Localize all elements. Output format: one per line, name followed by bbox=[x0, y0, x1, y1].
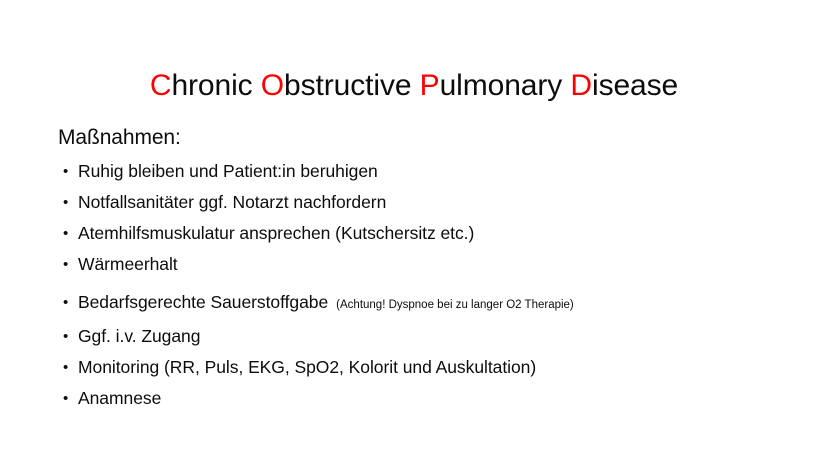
title-word-disease: isease bbox=[592, 69, 678, 102]
list-item: • Anamnese bbox=[58, 383, 778, 414]
title-initial-d: D bbox=[570, 69, 592, 102]
list-item: • Ruhig bleiben und Patient:in beruhigen bbox=[58, 156, 778, 187]
list-item: • Atemhilfsmuskulatur ansprechen (Kutsch… bbox=[58, 218, 778, 249]
list-item-label: Wärmeerhalt bbox=[78, 254, 178, 274]
list-item: • Bedarfsgerechte Sauerstoffgabe(Achtung… bbox=[58, 287, 778, 321]
list-item: • Notfallsanitäter ggf. Notarzt nachford… bbox=[58, 187, 778, 218]
list-item: • Monitoring (RR, Puls, EKG, SpO2, Kolor… bbox=[58, 352, 778, 383]
bullet-icon: • bbox=[63, 321, 68, 352]
body-content: Maßnahmen: • Ruhig bleiben und Patient:i… bbox=[58, 124, 778, 414]
list-item-note: (Achtung! Dyspnoe bei zu langer O2 Thera… bbox=[328, 299, 574, 311]
list-item-label: Monitoring (RR, Puls, EKG, SpO2, Kolorit… bbox=[78, 357, 536, 377]
bullet-icon: • bbox=[63, 383, 68, 414]
bullet-icon: • bbox=[63, 352, 68, 383]
measures-bullet-list: • Ruhig bleiben und Patient:in beruhigen… bbox=[58, 156, 778, 414]
list-item-label: Atemhilfsmuskulatur ansprechen (Kutscher… bbox=[78, 223, 474, 243]
list-item-label: Anamnese bbox=[78, 388, 161, 408]
title-initial-p: P bbox=[420, 69, 440, 102]
title-initial-o: O bbox=[261, 69, 284, 102]
bullet-icon: • bbox=[63, 249, 68, 280]
list-item-label: Bedarfsgerechte Sauerstoffgabe bbox=[78, 292, 328, 312]
bullet-icon: • bbox=[63, 187, 68, 218]
title-word-obstructive: bstructive bbox=[284, 69, 420, 102]
title-word-pulmonary: ulmonary bbox=[440, 69, 571, 102]
bullet-icon: • bbox=[63, 218, 68, 249]
bullet-icon: • bbox=[63, 287, 68, 318]
slide-canvas: Chronic Obstructive Pulmonary Disease Ma… bbox=[0, 0, 828, 466]
list-item-label: Ruhig bleiben und Patient:in beruhigen bbox=[78, 161, 378, 181]
list-item-label: Ggf. i.v. Zugang bbox=[78, 326, 200, 346]
title-initial-c: C bbox=[150, 69, 172, 102]
list-item-label: Notfallsanitäter ggf. Notarzt nachforder… bbox=[78, 192, 386, 212]
title-word-chronic: hronic bbox=[171, 69, 260, 102]
list-item: • Wärmeerhalt bbox=[58, 249, 778, 280]
bullet-icon: • bbox=[63, 156, 68, 187]
list-item: • Ggf. i.v. Zugang bbox=[58, 321, 778, 352]
page-title: Chronic Obstructive Pulmonary Disease bbox=[0, 68, 828, 104]
section-heading-massnahmen: Maßnahmen: bbox=[58, 124, 778, 152]
